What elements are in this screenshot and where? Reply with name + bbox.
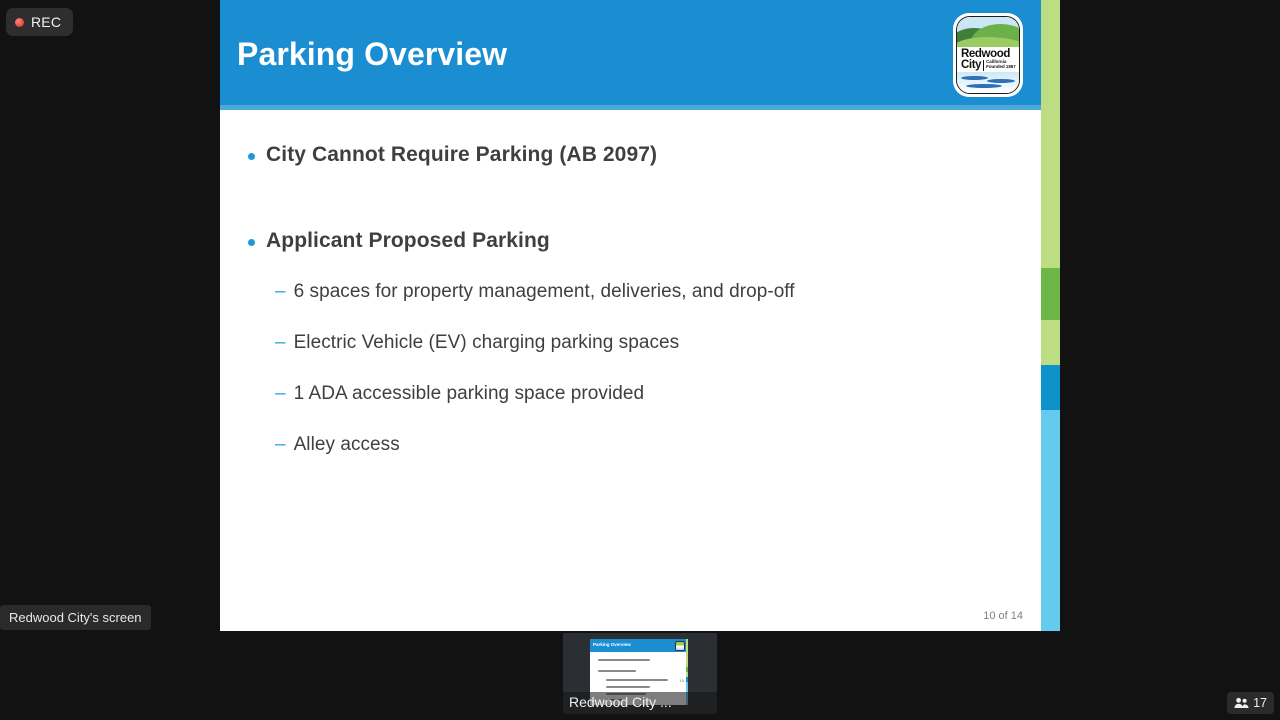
bullet-level1-text: Applicant Proposed Parking	[266, 229, 550, 253]
recording-indicator: REC	[6, 8, 73, 36]
participants-count-button[interactable]: 17	[1227, 692, 1274, 714]
page-title: Parking Overview	[237, 36, 507, 73]
bullet-level1: City Cannot Require Parking (AB 2097)	[248, 143, 657, 167]
logo-subtext: California Founded 1867	[983, 60, 1016, 70]
record-dot-icon	[15, 18, 24, 27]
filmstrip-thumbnail[interactable]: Parking Overview 10 Redwood City ...	[563, 633, 717, 714]
thumbnail-label: Redwood City ...	[563, 692, 717, 714]
logo-line-1: Redwood	[961, 49, 1019, 60]
accent-segment-1	[1041, 268, 1060, 320]
shared-screen-stage[interactable]: Parking Overview Redwood City Cali	[220, 0, 1060, 631]
bullet-dot-icon	[248, 239, 255, 246]
logo-line-2: City	[961, 60, 981, 71]
thumbnail-accent-segment-0	[686, 639, 689, 667]
thumbnail-slide-header: Parking Overview	[590, 639, 688, 652]
presentation-slide: Parking Overview Redwood City Cali	[220, 0, 1047, 631]
bullet-level2: –Electric Vehicle (EV) charging parking …	[275, 331, 679, 355]
logo-row-2: City California Founded 1867	[961, 60, 1019, 71]
thumbnail-logo-icon	[675, 641, 685, 651]
slide-accent-strip	[1041, 0, 1060, 631]
bullet-level2: –Alley access	[275, 433, 400, 457]
logo-water-icon	[957, 72, 1019, 93]
meeting-bottom-bar: Parking Overview 10 Redwood City ...	[0, 631, 1280, 720]
accent-segment-0	[1041, 0, 1060, 268]
slide-header: Parking Overview Redwood City Cali	[220, 0, 1047, 110]
bullet-level1: Applicant Proposed Parking	[248, 229, 550, 253]
zoom-meeting-window: REC Parking Overview Redwood City	[0, 0, 1280, 720]
bullet-level2-text: Electric Vehicle (EV) charging parking s…	[294, 331, 680, 355]
thumbnail-slide-title: Parking Overview	[593, 642, 631, 647]
bullet-dash-icon: –	[275, 433, 286, 457]
logo-inner: Redwood City California Founded 1867	[956, 16, 1020, 94]
bullet-level2-text: 6 spaces for property management, delive…	[294, 280, 795, 304]
participants-count: 17	[1253, 696, 1267, 710]
accent-segment-3	[1041, 365, 1060, 410]
people-icon	[1234, 697, 1249, 709]
redwood-city-logo: Redwood City California Founded 1867	[953, 13, 1023, 97]
logo-text-band: Redwood City California Founded 1867	[957, 47, 1019, 71]
bullet-level2-text: Alley access	[294, 433, 400, 457]
bullet-level2-text: 1 ADA accessible parking space provided	[294, 382, 645, 406]
bullet-level2: –6 spaces for property management, deliv…	[275, 280, 795, 304]
shared-screen-name-label: Redwood City's screen	[0, 605, 151, 630]
thumbnail-page-number: 10	[680, 678, 684, 683]
slide-page-number: 10 of 14	[983, 610, 1023, 622]
recording-label: REC	[31, 14, 61, 30]
bullet-dot-icon	[248, 153, 255, 160]
accent-segment-4	[1041, 410, 1060, 631]
bullet-dash-icon: –	[275, 331, 286, 355]
accent-segment-2	[1041, 320, 1060, 365]
bullet-level1-text: City Cannot Require Parking (AB 2097)	[266, 143, 657, 167]
logo-sub-line-2: Founded 1867	[986, 65, 1016, 70]
bullet-dash-icon: –	[275, 280, 286, 304]
bullet-dash-icon: –	[275, 382, 286, 406]
bullet-level2: –1 ADA accessible parking space provided	[275, 382, 644, 406]
slide-content: City Cannot Require Parking (AB 2097)App…	[220, 110, 1047, 631]
